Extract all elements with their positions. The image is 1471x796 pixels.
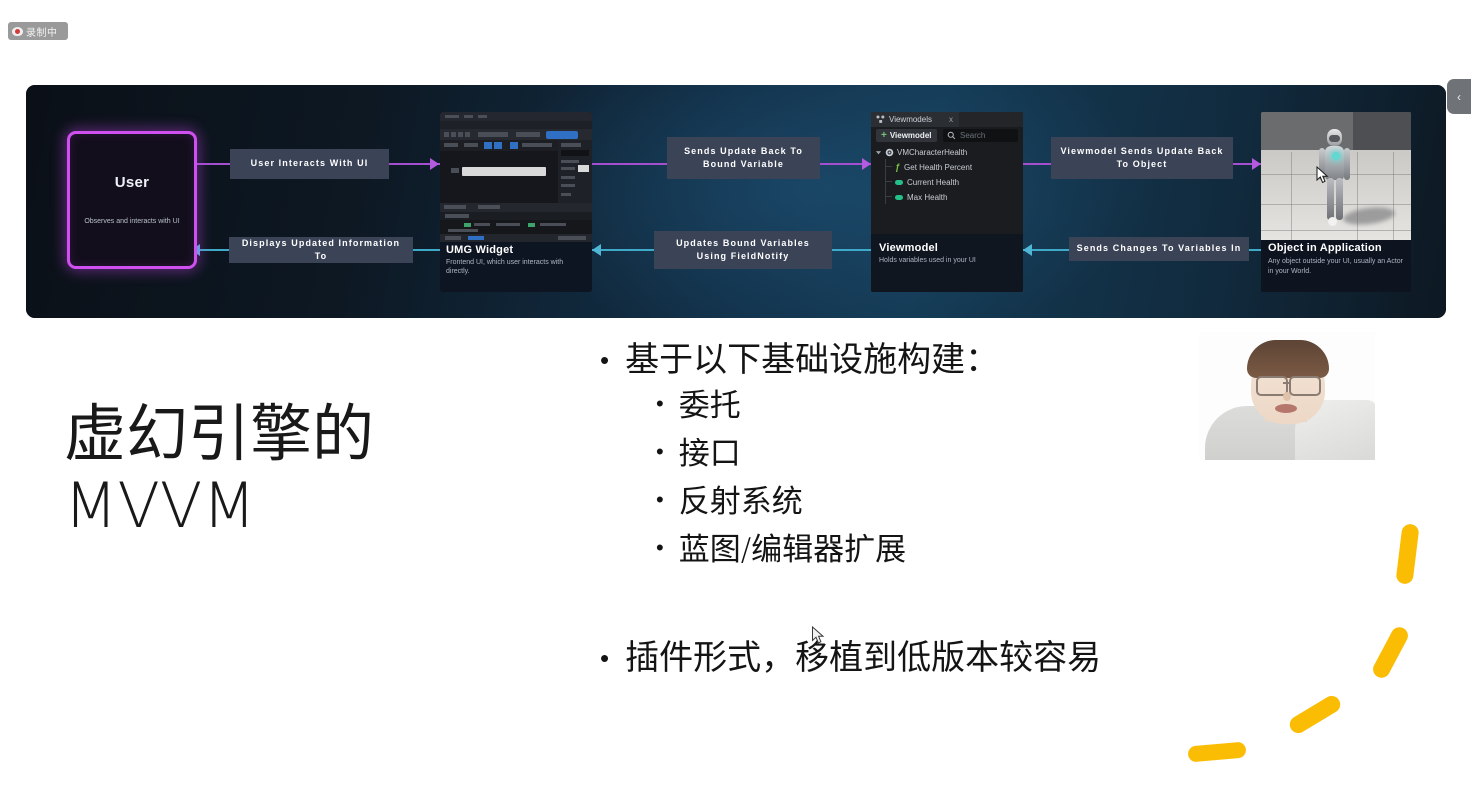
viewmodel-tabstrip: Viewmodels x — [871, 112, 1023, 127]
node-object-title: Object in Application — [1261, 242, 1411, 254]
page-title: 虚幻引擎的 MVVM — [64, 398, 534, 542]
close-icon[interactable]: x — [949, 115, 953, 124]
node-user-title: User — [115, 174, 150, 191]
bullet-glyph: • — [656, 478, 664, 524]
search-icon — [947, 131, 956, 140]
function-icon: ƒ — [895, 162, 900, 172]
bullet-text: 插件形式，移植到低版本较容易 — [625, 638, 1101, 679]
node-object-subtitle: Any object outside your UI, usually an A… — [1261, 254, 1411, 277]
viewmodel-toolbar: + Viewmodel Search — [871, 127, 1023, 144]
bullet-text: 委托 — [679, 382, 741, 430]
bullet-item: • 基于以下基础设施构建： — [600, 340, 1240, 382]
plus-icon: + — [881, 131, 887, 141]
chevron-left-icon: ‹ — [1457, 91, 1461, 103]
add-viewmodel-label: Viewmodel — [890, 131, 932, 140]
diagram-glow — [26, 85, 1446, 318]
viewmodel-tree-row[interactable]: Current Health 0 — [871, 175, 1023, 189]
bullet-glyph: • — [600, 638, 609, 680]
recording-badge[interactable]: 录制中 — [8, 22, 68, 40]
node-user-subtitle: Observes and interacts with UI — [78, 217, 185, 226]
add-viewmodel-button[interactable]: + Viewmodel — [876, 129, 937, 142]
viewmodel-class-icon — [885, 148, 894, 157]
bullet-item: • 蓝图/编辑器扩展 — [656, 526, 1240, 574]
recording-badge-label: 录制中 — [26, 24, 58, 39]
presenter-webcam[interactable] — [1199, 332, 1375, 460]
arrow-cursor — [1316, 166, 1329, 184]
node-object-caption: Object in Application Any object outside… — [1261, 242, 1411, 277]
arrow-label-user-to-umg: User Interacts With UI — [230, 149, 389, 179]
bullet-text: 基于以下基础设施构建： — [625, 340, 999, 381]
decor-dash — [1287, 693, 1344, 736]
arrow-label-vm-to-umg: Updates Bound Variables Using FieldNotif… — [654, 231, 832, 269]
decor-dash — [1370, 624, 1411, 681]
webcam-glasses-bridge — [1283, 382, 1291, 384]
viewmodel-tree-label: Current Health — [907, 178, 959, 187]
node-umg-caption: UMG Widget Frontend UI, which user inter… — [440, 244, 592, 277]
bullet-list-secondary: • 插件形式，移植到低版本较容易 — [600, 638, 1300, 680]
bullet-item: • 反射系统 — [656, 478, 1240, 526]
page-title-line1: 虚幻引擎的 — [64, 398, 534, 470]
variable-pill-icon — [895, 195, 903, 200]
arrow-label-umg-to-user: Displays Updated Information To — [229, 237, 413, 263]
chevron-down-icon[interactable] — [875, 149, 882, 156]
arrow-cursor — [811, 626, 825, 645]
record-dot-icon — [12, 27, 23, 36]
node-umg-title: UMG Widget — [440, 244, 592, 256]
arrow-label-vm-to-object: Viewmodel Sends Update Back To Object — [1051, 137, 1233, 179]
node-umg-subtitle: Frontend UI, which user interacts with d… — [440, 256, 592, 277]
node-viewmodel-caption: Viewmodel Holds variables used in your U… — [871, 234, 1023, 292]
viewmodel-tree-row[interactable]: ƒ Get Health Percent — [871, 160, 1023, 174]
bullet-glyph: • — [656, 526, 664, 572]
tab-viewmodels[interactable]: Viewmodels x — [871, 112, 959, 127]
webcam-hair — [1247, 340, 1329, 378]
arrowhead-user-to-umg — [430, 158, 439, 170]
node-user: User Observes and interacts with UI — [67, 131, 197, 269]
bullet-text: 接口 — [679, 430, 741, 478]
arrowhead-vm-to-umg — [592, 244, 601, 256]
viewmodel-tree-label: Get Health Percent — [904, 163, 972, 172]
webcam-glasses-right — [1289, 376, 1321, 396]
node-object-in-application: Object in Application Any object outside… — [1261, 112, 1411, 292]
bullet-text: 反射系统 — [679, 478, 803, 526]
bullet-glyph: • — [600, 340, 609, 382]
webcam-nose — [1283, 392, 1291, 401]
mvvm-flow-diagram: User Observes and interacts with UI User… — [26, 85, 1446, 318]
page-title-line2: MVVM — [64, 470, 534, 542]
bullet-list: • 基于以下基础设施构建： • 委托 • 接口 • 反射系统 • 蓝图/编辑器扩… — [600, 340, 1240, 574]
viewmodel-tree-row[interactable]: VMCharacterHealth — [871, 145, 1023, 159]
node-umg-widget: UMG Widget Frontend UI, which user inter… — [440, 112, 592, 292]
arrowhead-umg-to-vm — [862, 158, 871, 170]
panel-collapse-button[interactable]: ‹ — [1447, 79, 1471, 114]
viewmodel-tree-label: Max Health — [907, 193, 947, 202]
viewmodel-tree-label: VMCharacterHealth — [897, 148, 967, 157]
bullet-item: • 插件形式，移植到低版本较容易 — [600, 638, 1300, 680]
arrow-label-umg-to-vm: Sends Update Back To Bound Variable — [667, 137, 820, 179]
decor-dash — [1187, 742, 1246, 763]
viewmodels-panel-icon — [876, 115, 885, 124]
bullet-item: • 接口 — [656, 430, 1240, 478]
tab-viewmodels-label: Viewmodels — [889, 115, 932, 124]
webcam-mouth — [1275, 404, 1297, 413]
bullet-glyph: • — [656, 430, 664, 476]
arrow-label-object-to-vm: Sends Changes To Variables In — [1069, 237, 1249, 261]
viewmodel-search-input[interactable]: Search — [943, 129, 1018, 142]
viewmodel-tree-row[interactable]: Max Health 0 — [871, 190, 1023, 204]
arrowhead-object-to-vm — [1023, 244, 1032, 256]
decor-dash — [1395, 523, 1419, 585]
node-viewmodel: Viewmodels x + Viewmodel Search — [871, 112, 1023, 292]
bullet-glyph: • — [656, 382, 664, 428]
node-viewmodel-title: Viewmodel — [871, 234, 1023, 254]
object-viewport-screenshot — [1261, 112, 1411, 240]
bullet-text: 蓝图/编辑器扩展 — [679, 526, 906, 574]
arrowhead-vm-to-object — [1252, 158, 1261, 170]
viewmodel-search-placeholder: Search — [960, 131, 985, 140]
variable-pill-icon — [895, 180, 903, 185]
umg-editor-screenshot — [440, 112, 592, 242]
node-viewmodel-subtitle: Holds variables used in your UI — [871, 254, 1023, 264]
bullet-item: • 委托 — [656, 382, 1240, 430]
